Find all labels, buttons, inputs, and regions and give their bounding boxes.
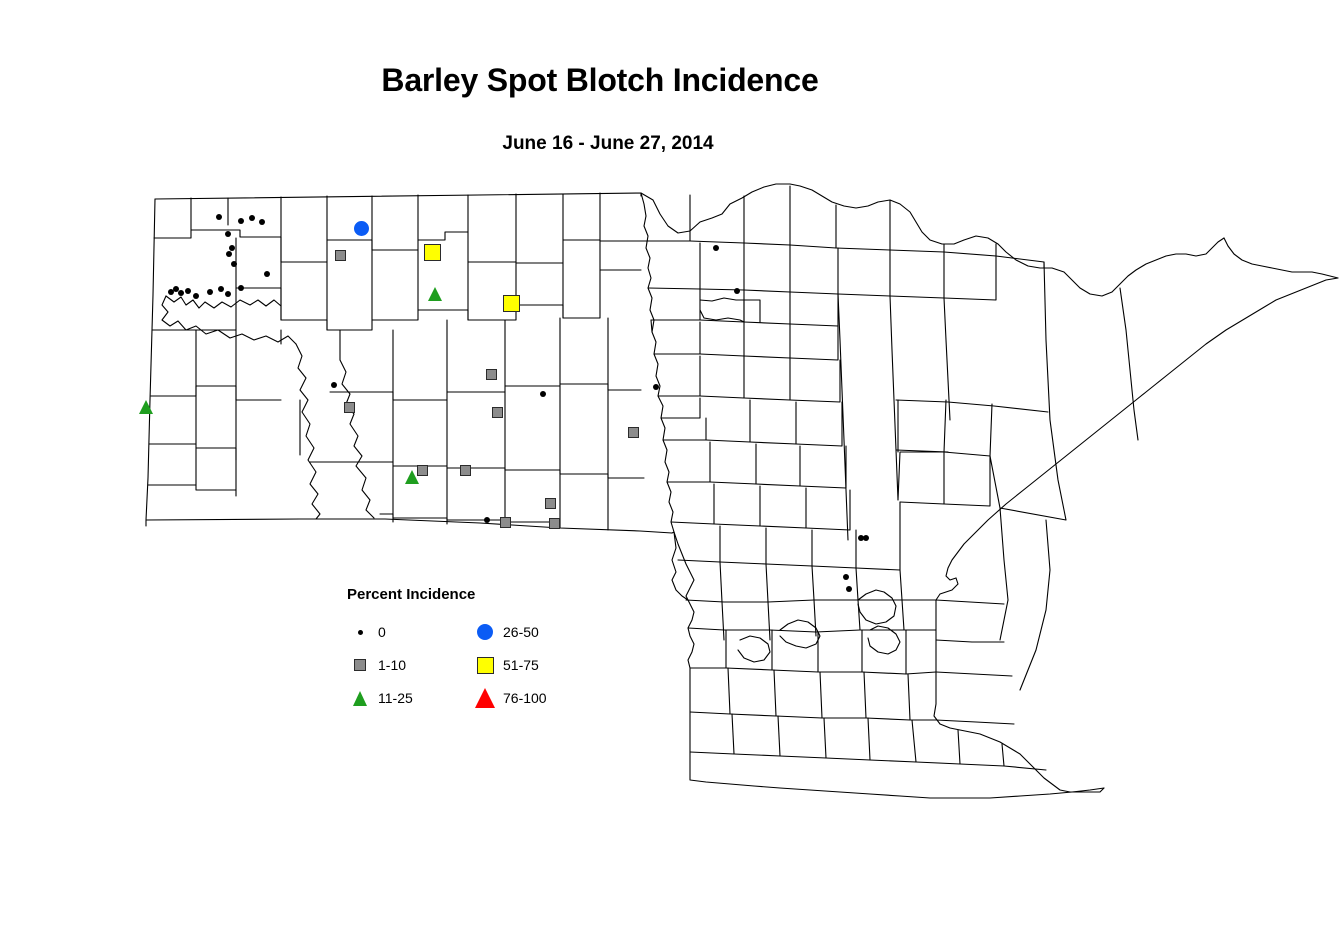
map-point-0: [484, 517, 490, 523]
legend-entry-26-50[interactable]: 26-50: [472, 621, 539, 643]
map-point-1-10: [628, 427, 639, 438]
map-point-0: [238, 285, 244, 291]
county-outlines: [146, 184, 1338, 798]
map-point-0: [238, 218, 244, 224]
map-point-11-25: [139, 400, 153, 414]
red-triangle-icon: [472, 687, 498, 709]
map-point-1-10: [492, 407, 503, 418]
gray-square-icon: [347, 654, 373, 676]
legend-entries: 01-1011-2526-5051-7576-100: [347, 621, 577, 711]
legend-label: 76-100: [503, 690, 547, 706]
map-legend: Percent Incidence 01-1011-2526-5051-7576…: [347, 586, 587, 711]
map-point-51-75: [424, 244, 441, 261]
legend-label: 26-50: [503, 624, 539, 640]
legend-entry-1-10[interactable]: 1-10: [347, 654, 406, 676]
map-point-0: [653, 384, 659, 390]
map-point-1-10: [545, 498, 556, 509]
map-point-0: [843, 574, 849, 580]
map-point-0: [249, 215, 255, 221]
map-point-0: [225, 291, 231, 297]
green-triangle-icon: [347, 687, 373, 709]
legend-entry-76-100[interactable]: 76-100: [472, 687, 547, 709]
map-point-51-75: [503, 295, 520, 312]
map-point-1-10: [500, 517, 511, 528]
map-point-1-10: [486, 369, 497, 380]
map-point-26-50: [354, 221, 369, 236]
map-point-1-10: [549, 518, 560, 529]
map-point-0: [193, 293, 199, 299]
map-point-0: [216, 214, 222, 220]
map-point-11-25: [405, 470, 419, 484]
legend-label: 1-10: [378, 657, 406, 673]
legend-label: 51-75: [503, 657, 539, 673]
legend-label: 11-25: [378, 690, 413, 706]
map-point-1-10: [460, 465, 471, 476]
map-point-0: [259, 219, 265, 225]
map-point-0: [331, 382, 337, 388]
legend-title: Percent Incidence: [347, 586, 587, 603]
map-point-0: [229, 245, 235, 251]
yellow-square-icon: [472, 654, 498, 676]
blue-circle-icon: [472, 621, 498, 643]
map-point-1-10: [344, 402, 355, 413]
legend-label: 0: [378, 624, 386, 640]
legend-entry-0[interactable]: 0: [347, 621, 386, 643]
map-point-0: [207, 289, 213, 295]
map-point-0: [264, 271, 270, 277]
map-point-0: [178, 290, 184, 296]
map-point-0: [185, 288, 191, 294]
map-point-0: [225, 231, 231, 237]
map-point-1-10: [335, 250, 346, 261]
map-point-0: [713, 245, 719, 251]
small-black-dot-icon: [347, 621, 373, 643]
page-subtitle: June 16 - June 27, 2014: [0, 133, 1216, 155]
map-point-0: [846, 586, 852, 592]
map-point-0: [231, 261, 237, 267]
map-point-0: [734, 288, 740, 294]
map-point-0: [218, 286, 224, 292]
map-point-0: [540, 391, 546, 397]
legend-entry-11-25[interactable]: 11-25: [347, 687, 413, 709]
map-point-0: [226, 251, 232, 257]
map-point-11-25: [428, 287, 442, 301]
map-point-0: [863, 535, 869, 541]
page-title: Barley Spot Blotch Incidence: [0, 62, 1200, 99]
legend-entry-51-75[interactable]: 51-75: [472, 654, 539, 676]
